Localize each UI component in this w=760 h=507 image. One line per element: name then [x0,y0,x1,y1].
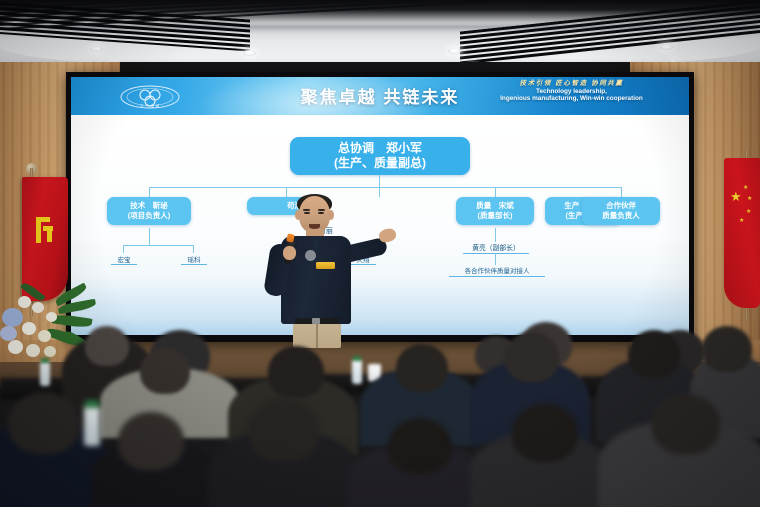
downlight [448,48,461,54]
downlight [660,44,673,50]
presenter-eyebrow [318,209,325,211]
org-leaf-hongbao: 宏宝 [109,254,139,264]
connector [495,187,496,197]
water-bottle [352,360,362,384]
presenter-eyebrow [303,209,310,211]
audience-head [505,332,559,382]
ceiling [0,0,760,70]
presenter-ear [328,210,334,220]
org-node-partner-line2: 质量负责人 [582,211,660,221]
org-node-root-line1: 总协调 郑小军 [290,141,470,156]
org-node-quality: 质量 宋斌 (质量部长) [456,197,534,225]
connector [621,187,622,197]
downlight [90,46,103,52]
org-node-technology-line2: (项目负责人) [107,211,191,221]
tagline-en-line2: Ingenious manufacturing, Win-win coopera… [464,95,679,103]
connector [149,187,150,197]
audience-head [396,344,448,392]
audience-head [85,326,129,366]
underline [111,264,137,265]
org-node-partner: 合作伙伴 质量负责人 [582,197,660,225]
org-node-quality-line1: 质量 宋斌 [456,201,534,211]
org-node-technology-line1: 技术 靳珌 [107,201,191,211]
presenter-ear [295,210,301,220]
audience-head [628,330,680,378]
bottle-cap [41,358,49,363]
connector [123,245,193,246]
connector [149,187,621,188]
org-node-quality-line2: (质量部长) [456,211,534,221]
org-node-huangliang: 黄亮（副部长） [459,242,533,252]
underline [181,264,207,265]
audience-head [388,418,452,474]
connector [379,175,380,187]
presenter-left-hand [283,246,296,260]
tagline-cn: 技术引领 匠心智造 协同共赢 [464,80,679,88]
downlight [243,50,256,56]
audience-head [8,392,80,454]
flag-star-small: ★ [743,184,748,193]
presenter-belt-buckle [312,318,320,324]
org-node-root: 总协调 郑小军 (生产、质量副总) [290,137,470,175]
flag-star-small: ★ [746,208,751,217]
org-leaf-partner-contacts: 各合作伙伴质量对接人 [445,265,549,275]
audience-head [268,346,324,398]
connector [495,253,496,265]
slide-banner: 中 汽 成 都 聚焦卓越 共链未来 技术引领 匠心智造 协同共赢 Technol… [71,77,689,115]
tagline-en-line1: Technology leadership, [464,88,679,96]
presenter [243,196,403,348]
underline [449,276,545,277]
audience-head [118,412,184,470]
flag-star-small: ★ [747,195,752,204]
bottle-cap [353,356,361,361]
presenter-trouser-seam [316,324,318,348]
slide-banner-tagline: 技术引领 匠心智造 协同共赢 Technology leadership, In… [464,80,679,103]
audience-head [652,394,720,454]
flag-star-large: ★ [730,192,742,201]
water-bottle [40,362,50,386]
presenter-badge [316,262,335,269]
connector [149,228,150,245]
prc-national-flag: ★ ★ ★ ★ ★ [724,158,760,308]
org-node-partner-line1: 合作伙伴 [582,201,660,211]
audience-head [140,348,190,394]
audience-head [702,326,752,372]
connector [495,228,496,242]
bottle-cap [85,400,99,408]
flag-star-small: ★ [739,217,744,226]
presenter-jacket-logo [305,250,316,261]
audience-head [512,404,578,462]
water-bottle [84,406,100,446]
connector [123,245,124,253]
audience-head [248,398,320,462]
org-leaf-yaoke: 瑶科 [179,254,209,264]
photo-scene: 中 汽 成 都 聚焦卓越 共链未来 技术引领 匠心智造 协同共赢 Technol… [0,0,760,507]
org-node-root-line2: (生产、质量副总) [290,156,470,171]
org-node-technology: 技术 靳珌 (项目负责人) [107,197,191,225]
connector [193,245,194,253]
